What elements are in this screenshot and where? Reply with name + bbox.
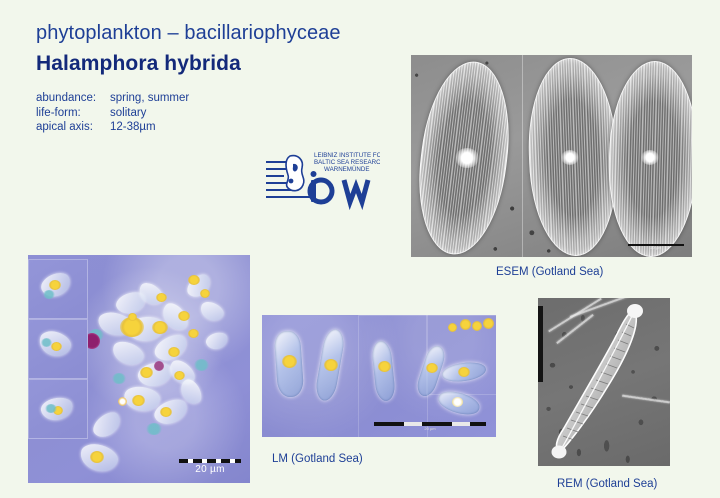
fact-row-apical-axis: apical axis: 12-38µm [36,120,436,135]
cell-detail [45,404,57,413]
fact-value-apical-axis: 12-38µm [110,120,156,135]
chloroplast [168,347,180,357]
figure-rem [538,298,670,466]
figure-esem: 20 µm [411,55,692,257]
chloroplast [128,313,137,321]
chloroplast [452,397,463,407]
iow-logo-icon: LEIBNIZ INSTITUTE FOR BALTIC SEA RESEARC… [264,148,380,210]
logo-line2: BALTIC SEA RESEARCH [314,159,380,166]
cell-detail [43,290,55,299]
chloroplast [90,451,104,463]
central-nodule [561,150,579,165]
logo-line1: LEIBNIZ INSTITUTE FOR [314,152,380,159]
figure-lm: 20 µm [262,315,496,437]
chloroplast [378,361,391,372]
small-cell [448,323,457,332]
cell-detail [112,373,126,384]
chloroplast [458,367,470,377]
small-cell [460,319,471,330]
fact-value-abundance: spring, summer [110,91,189,106]
central-nodule [641,150,659,165]
cell-detail [146,423,162,435]
logo-line3: WARNEMÜNDE [324,166,370,173]
rem-label-strip [538,306,543,382]
chloroplast [188,329,199,338]
chloroplast [160,407,172,417]
cell-detail [41,338,52,347]
small-flagellate [118,397,127,406]
inset-panel [28,259,88,319]
chloroplast [200,289,210,298]
fact-row-life-form: life-form: solitary [36,106,436,121]
figure-lm-composite: 20 µm [28,255,250,483]
chloroplast [426,363,438,373]
iow-logo: LEIBNIZ INSTITUTE FOR BALTIC SEA RESEARC… [264,148,380,210]
fact-value-life-form: solitary [110,106,146,121]
rem-diatom-valve [550,302,646,460]
lm-composite-scale-bar: 20 µm [179,459,241,475]
fact-label-apical-axis: apical axis: [36,120,110,135]
esem-scale-bar-label: 20 µm [628,246,684,250]
chloroplast [174,371,185,380]
fact-label-life-form: life-form: [36,106,110,121]
chloroplast [140,367,153,378]
small-cell [472,321,482,331]
chloroplast [324,359,338,371]
chloroplast [178,311,190,321]
group-title: phytoplankton – bacillariophyceae [36,21,436,45]
header-block: phytoplankton – bacillariophyceae Halamp… [36,21,436,135]
esem-scale-bar: 20 µm [628,244,684,250]
chloroplast [51,342,62,351]
esem-panel-divider [522,55,523,257]
slide-canvas: phytoplankton – bacillariophyceae Halamp… [0,0,720,498]
lm-scale-bar: 20 µm [374,422,486,431]
small-cell [483,318,494,329]
fact-row-abundance: abundance: spring, summer [36,91,436,106]
species-title: Halamphora hybrida [36,51,436,77]
fact-label-abundance: abundance: [36,91,110,106]
central-nodule [455,148,479,168]
lm-composite-scale-bar-line [179,459,241,463]
lm-composite-scale-bar-label: 20 µm [179,464,241,475]
chloroplast [156,293,167,302]
fact-list: abundance: spring, summer life-form: sol… [36,91,436,135]
chloroplast [282,355,297,368]
inset-panel [28,319,88,379]
pigmented-particle [154,361,164,371]
chloroplast [132,395,145,406]
caption-lm: LM (Gotland Sea) [272,453,363,465]
chloroplast [152,321,168,334]
lm-scale-bar-label: 20 µm [374,426,486,431]
chloroplast [49,280,61,290]
caption-esem: ESEM (Gotland Sea) [496,266,603,278]
cell-detail [194,359,209,371]
chloroplast [188,275,200,285]
caption-rem: REM (Gotland Sea) [557,478,657,490]
inset-panel [28,379,88,439]
